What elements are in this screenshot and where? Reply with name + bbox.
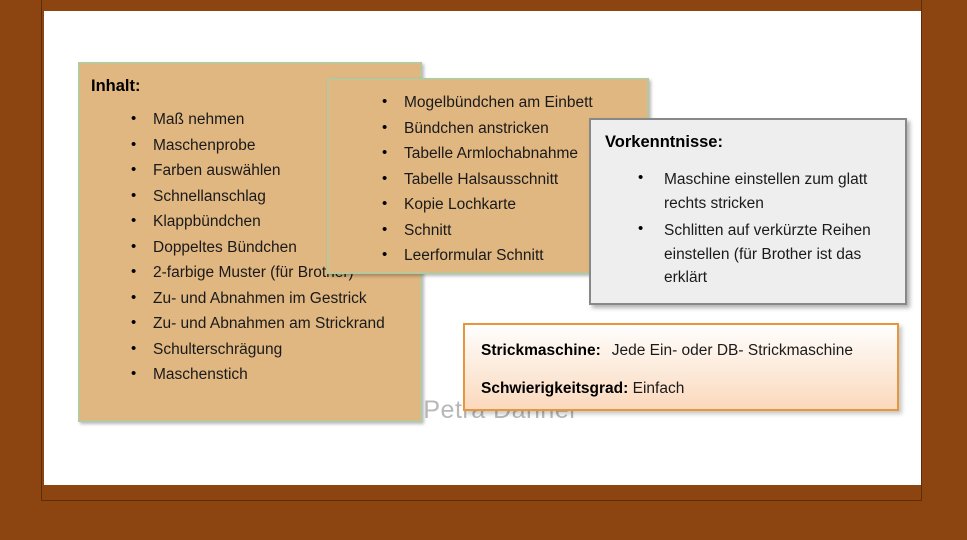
list-item: Schlitten auf verkürzte Reihen einstelle… <box>625 219 905 290</box>
presentation-window: © Petra Danner Inhalt: Maß nehmen Masche… <box>0 0 967 540</box>
strickmaschine-value: Jede Ein- oder DB- Strickmaschine <box>612 342 853 359</box>
schwierigkeitsgrad-value: Einfach <box>633 380 685 397</box>
slide-canvas[interactable]: © Petra Danner Inhalt: Maß nehmen Masche… <box>44 11 921 485</box>
list-item: Mogelbündchen am Einbett <box>376 94 647 112</box>
list-item: Schulterschrägung <box>125 341 420 359</box>
list-item: Zu- und Abnahmen im Gestrick <box>125 290 420 308</box>
strickmaschine-label: Strickmaschine: <box>481 342 601 359</box>
vorkenntnisse-title: Vorkenntnisse: <box>605 133 905 152</box>
list-item: Maschenstich <box>125 366 420 384</box>
vorkenntnisse-list: Maschine einstellen zum glatt rechts str… <box>625 168 905 290</box>
list-item: Zu- und Abnahmen am Strickrand <box>125 315 420 333</box>
content-box-vorkenntnisse[interactable]: Vorkenntnisse: Maschine einstellen zum g… <box>589 118 907 305</box>
list-item: Maschine einstellen zum glatt rechts str… <box>625 168 905 215</box>
strickmaschine-row: Strickmaschine:Jede Ein- oder DB- Strick… <box>481 325 897 360</box>
schwierigkeitsgrad-label: Schwierigkeitsgrad: <box>481 380 628 397</box>
schwierigkeitsgrad-row: Schwierigkeitsgrad: Einfach <box>481 360 897 398</box>
content-box-maschine[interactable]: Strickmaschine:Jede Ein- oder DB- Strick… <box>463 323 899 411</box>
